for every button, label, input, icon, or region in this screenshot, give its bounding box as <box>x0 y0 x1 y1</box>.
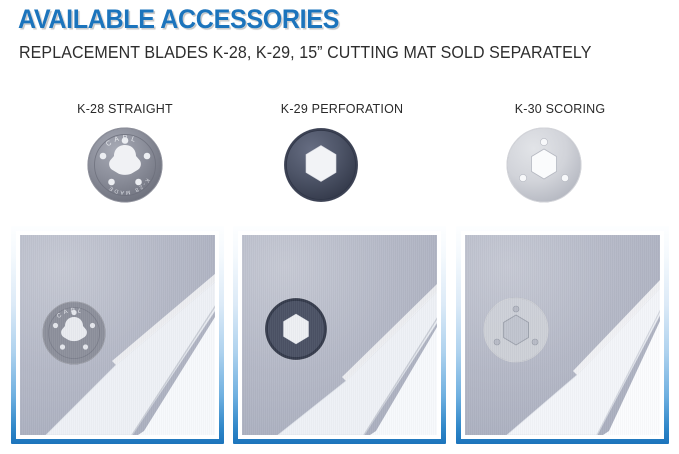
photo-frame: CARL <box>16 231 219 439</box>
photo-frame <box>238 231 441 439</box>
photo-panel-scoring <box>456 226 669 444</box>
page-subtitle: REPLACEMENT BLADES K-28, K-29, 15” CUTTI… <box>19 42 592 63</box>
perforation-blade-icon <box>282 126 360 209</box>
straight-blade-icon: CARL K-28 MADE <box>86 126 164 209</box>
photo-panel-perforation <box>233 226 446 444</box>
photo-scoring-fold <box>465 235 660 435</box>
photo-frame <box>461 231 664 439</box>
blade-label-k28: K-28 STRAIGHT <box>0 102 250 116</box>
scoring-blade-icon <box>505 126 583 209</box>
page-title: AVAILABLE ACCESSORIES <box>18 4 339 35</box>
blade-label-k29: K-29 PERFORATION <box>222 102 462 116</box>
photo-perforation-cut <box>242 235 437 435</box>
accessories-graphic: AVAILABLE ACCESSORIES REPLACEMENT BLADES… <box>0 0 679 454</box>
blade-label-k30: K-30 SCORING <box>440 102 679 116</box>
photo-straight-cut: CARL <box>20 235 215 435</box>
photo-panel-straight: CARL <box>11 226 224 444</box>
